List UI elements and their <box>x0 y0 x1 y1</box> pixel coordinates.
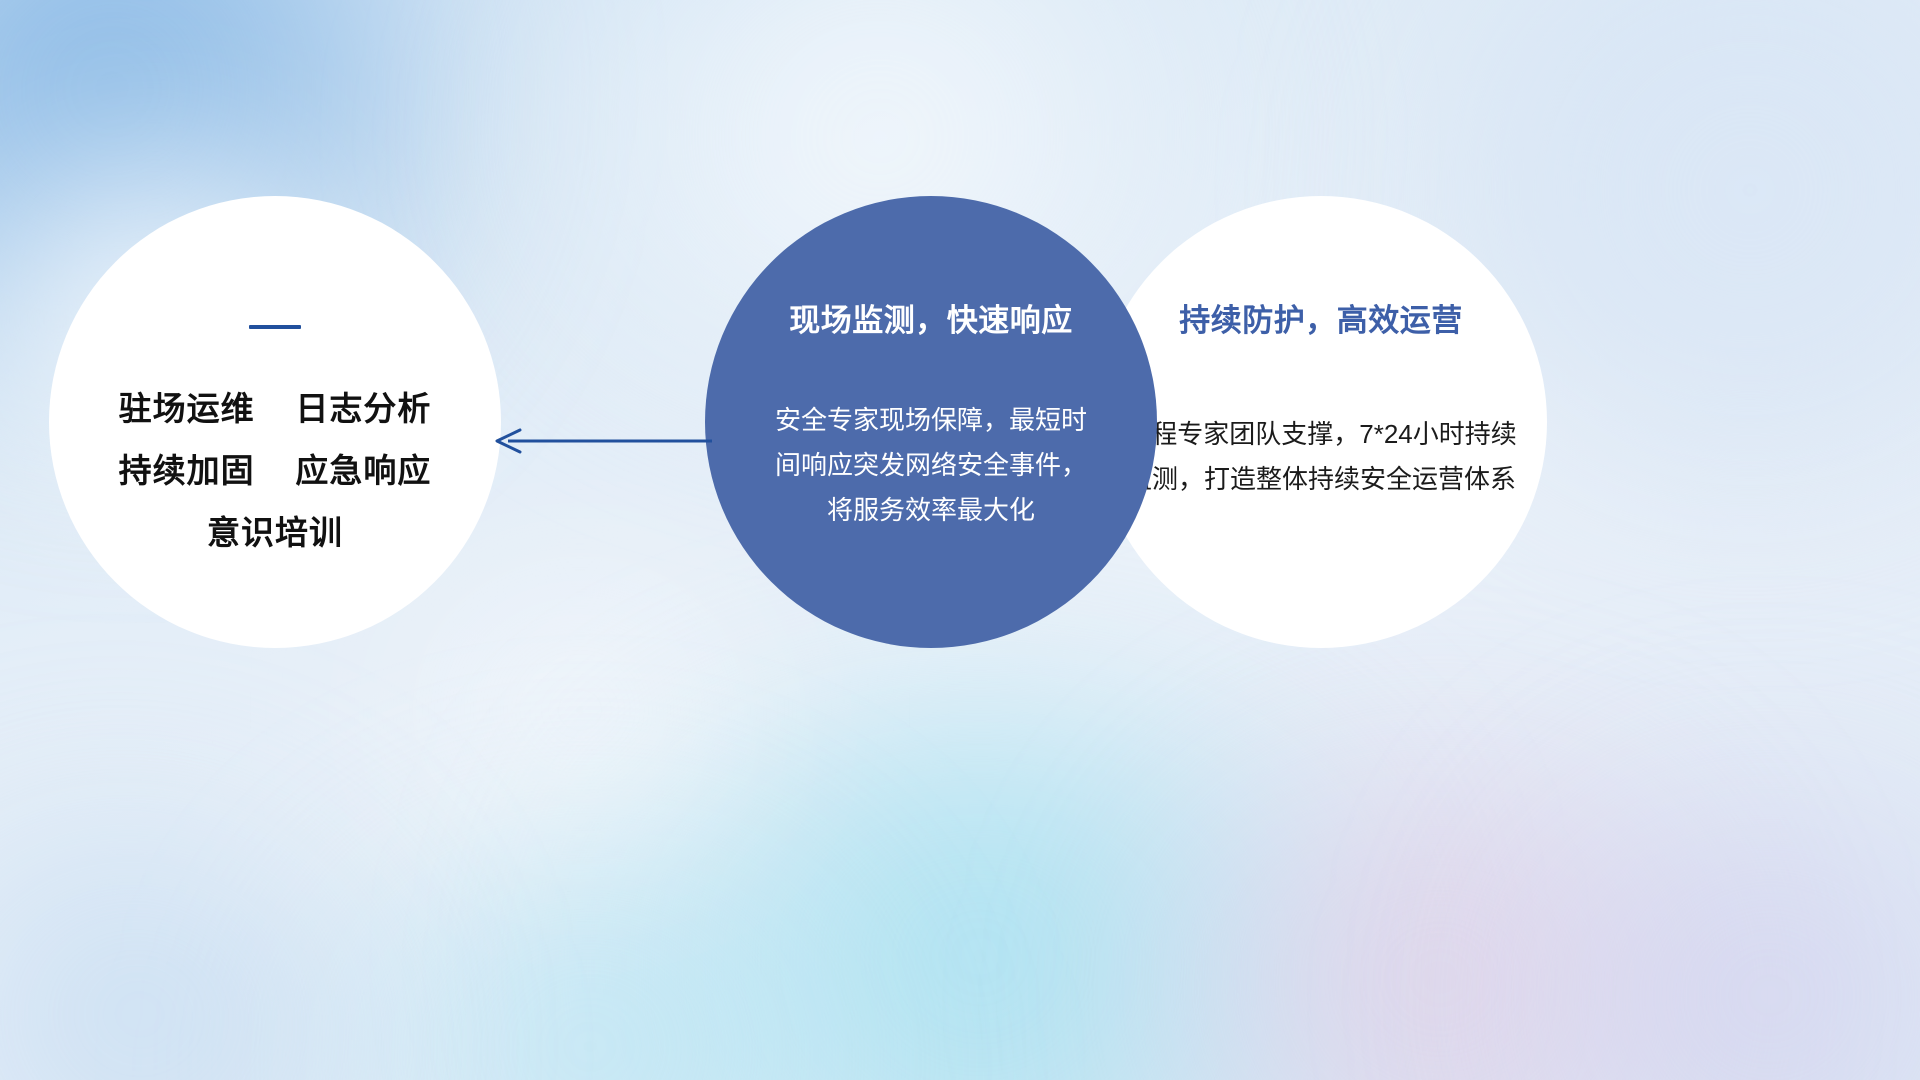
center-monitoring-circle[interactable]: 现场监测，快速响应 安全专家现场保障，最短时间响应突发网络安全事件，将服务效率最… <box>705 196 1157 648</box>
right-circle-heading: 持续防护，高效运营 <box>1179 295 1463 340</box>
left-circle-divider <box>249 325 301 329</box>
left-arrow-icon <box>492 424 712 458</box>
left-circle-capability-list: 驻场运维 日志分析 持续加固 应急响应 意识培训 <box>49 378 501 564</box>
center-circle-body-text: 安全专家现场保障，最短时间响应突发网络安全事件，将服务效率最大化 <box>763 398 1099 533</box>
center-circle-heading: 现场监测，快速响应 <box>789 295 1073 340</box>
capability-line-2: 持续加固 应急响应 <box>49 440 501 502</box>
right-operations-circle[interactable]: 持续防护，高效运营 远程专家团队支撑，7*24小时持续监测，打造整体持续安全运营… <box>1095 196 1547 648</box>
left-capability-circle[interactable]: 驻场运维 日志分析 持续加固 应急响应 意识培训 <box>49 196 501 648</box>
right-circle-body-text: 远程专家团队支撑，7*24小时持续监测，打造整体持续安全运营体系 <box>1121 412 1521 502</box>
slide-canvas: 驻场运维 日志分析 持续加固 应急响应 意识培训 持续防护，高效运营 远程专家团… <box>0 0 1920 1080</box>
capability-line-1: 驻场运维 日志分析 <box>49 378 501 440</box>
capability-line-3: 意识培训 <box>49 502 501 564</box>
